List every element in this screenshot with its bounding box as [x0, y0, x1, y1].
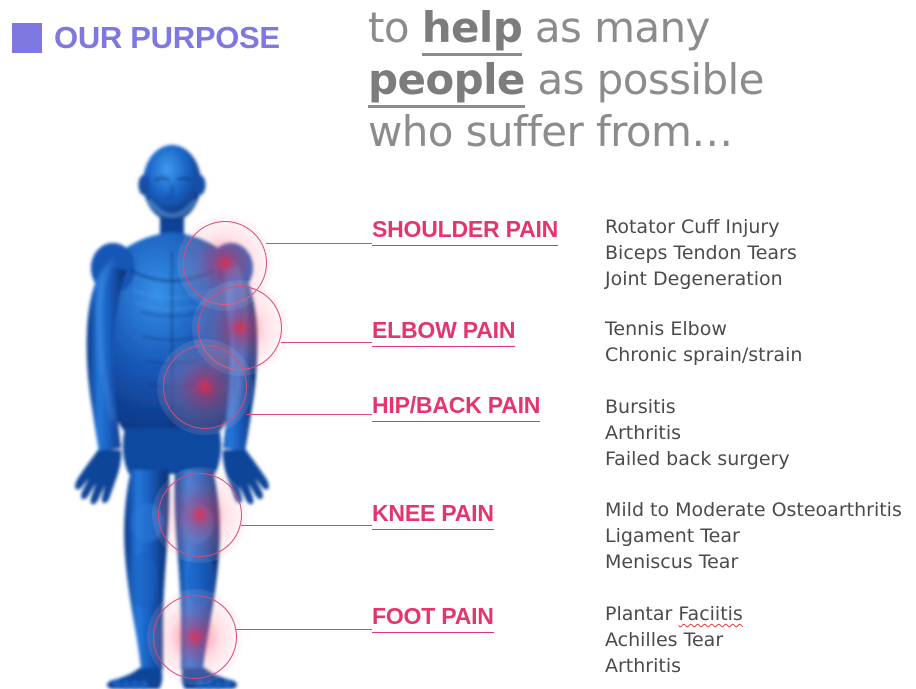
condition-item: Mild to Moderate Osteoarthritis [605, 497, 902, 523]
condition-item: Meniscus Tear [605, 549, 902, 575]
pain-label-shoulder-pain[interactable]: SHOULDER PAIN [372, 218, 558, 246]
condition-item: Biceps Tendon Tears [605, 240, 797, 266]
condition-list-knee-pain: Mild to Moderate OsteoarthritisLigament … [605, 497, 902, 575]
condition-list-foot-pain: Plantar FaciitisAchilles TearArthritis [605, 601, 743, 679]
condition-item: Tennis Elbow [605, 316, 802, 342]
headline-line-1: to help as many [368, 2, 916, 54]
condition-list-shoulder-pain: Rotator Cuff InjuryBiceps Tendon TearsJo… [605, 214, 797, 292]
headline-text-to: to [368, 3, 422, 52]
headline-text-as-many: as many [522, 3, 710, 52]
headline-line-3: who suffer from… [368, 106, 916, 158]
headline-emphasis-help: help [422, 3, 522, 56]
condition-item: Plantar Faciitis [605, 601, 743, 627]
condition-item: Ligament Tear [605, 523, 902, 549]
spellcheck-underline: Faciitis [678, 603, 742, 625]
connector-line-elbow-pain [281, 342, 372, 343]
condition-item: Achilles Tear [605, 627, 743, 653]
headline-emphasis-people: people [368, 55, 525, 108]
purple-square-icon [12, 23, 42, 53]
headline-text-as-possible: as possible [525, 55, 764, 104]
condition-item: Arthritis [605, 653, 743, 679]
pain-label-foot-pain[interactable]: FOOT PAIN [372, 605, 494, 633]
pain-label-elbow-pain[interactable]: ELBOW PAIN [372, 319, 515, 347]
condition-list-elbow-pain: Tennis ElbowChronic sprain/strain [605, 316, 802, 368]
condition-item: Joint Degeneration [605, 266, 797, 292]
headline: to help as many people as possible who s… [368, 2, 916, 158]
condition-item: Failed back surgery [605, 446, 790, 472]
connector-line-knee-pain [241, 525, 372, 526]
condition-item: Chronic sprain/strain [605, 342, 802, 368]
headline-line-2: people as possible [368, 54, 916, 106]
condition-list-hip-back-pain: BursitisArthritisFailed back surgery [605, 394, 790, 472]
condition-item: Bursitis [605, 394, 790, 420]
connector-line-shoulder-pain [266, 243, 372, 244]
infographic-canvas: OUR PURPOSE to help as many people as po… [0, 0, 916, 689]
connector-line-foot-pain [236, 629, 372, 630]
our-purpose-block: OUR PURPOSE [12, 22, 280, 53]
condition-item: Arthritis [605, 420, 790, 446]
page-title: OUR PURPOSE [54, 22, 280, 53]
condition-item: Rotator Cuff Injury [605, 214, 797, 240]
pain-label-hip-back-pain[interactable]: HIP/BACK PAIN [372, 394, 540, 422]
pain-label-knee-pain[interactable]: KNEE PAIN [372, 502, 494, 530]
connector-line-hip-back-pain [246, 414, 372, 415]
